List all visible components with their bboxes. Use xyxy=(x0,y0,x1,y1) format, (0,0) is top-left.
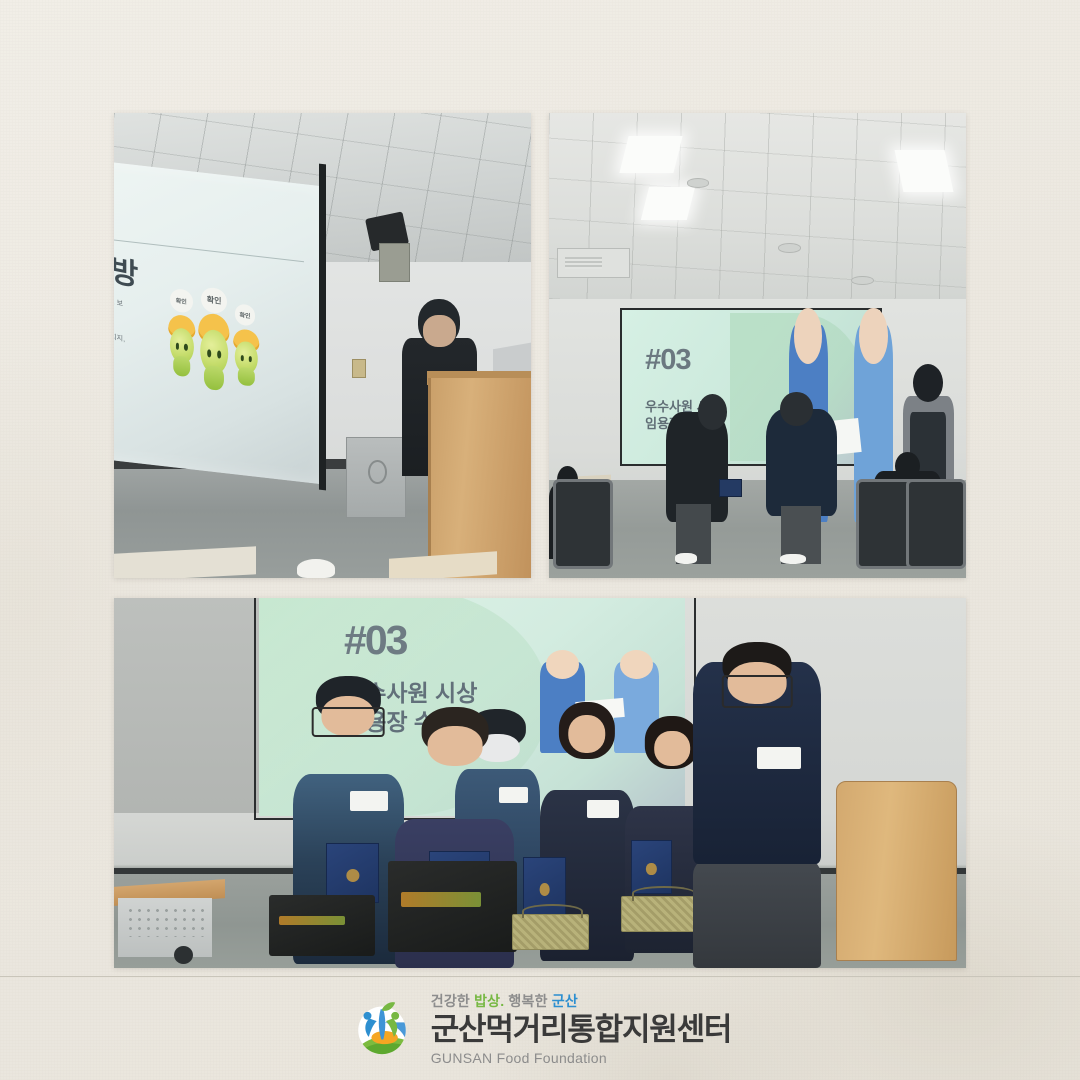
ceiling-vent xyxy=(687,178,710,187)
illustration-head-right xyxy=(620,650,653,679)
organization-name-en: GUNSAN Food Foundation xyxy=(431,1050,732,1066)
air-conditioner-vent xyxy=(557,248,630,278)
name-badge xyxy=(350,791,388,811)
mascot-right xyxy=(234,329,259,384)
giver-head xyxy=(780,392,813,426)
slide-rule-line xyxy=(114,239,304,263)
metal-cabinet xyxy=(346,437,406,518)
glasses-icon xyxy=(312,707,385,737)
mascot-eye xyxy=(241,356,245,362)
slide-body-text: 과속방지, 보 리한 힘 지지, 지) xyxy=(114,289,125,367)
tagline-part-2: 밥상. xyxy=(474,993,504,1009)
presenter-face xyxy=(423,315,456,347)
photo-collage-card: 예방 과속방지, 보 리한 힘 지지, 지) 확인 확인 확인 xyxy=(0,0,1080,1080)
person-face xyxy=(654,731,690,767)
recipient-head xyxy=(698,394,727,429)
ceiling-vent xyxy=(778,243,801,252)
person-face xyxy=(427,726,482,766)
paper-cup xyxy=(297,559,335,578)
screen-side-frame xyxy=(319,164,326,490)
person-trousers xyxy=(693,857,821,968)
mascot-body xyxy=(238,367,254,387)
person-man-glasses-right xyxy=(693,642,821,968)
illustration-head-right xyxy=(859,308,887,364)
wall-outlet xyxy=(352,359,367,377)
gift-bag xyxy=(269,895,375,956)
speech-bubble-2: 확인 xyxy=(201,287,226,315)
recipient-shoe xyxy=(675,553,698,564)
award-gift-box xyxy=(719,479,742,497)
stacking-chair xyxy=(906,479,966,569)
tagline-part-4: 군산 xyxy=(552,993,578,1009)
mascot-eye xyxy=(249,356,253,362)
speech-bubble-3: 확인 xyxy=(235,304,256,327)
name-badge xyxy=(587,800,619,818)
mascot-eye xyxy=(175,343,179,350)
wall-control-box xyxy=(379,243,410,282)
gunsan-food-foundation-logo-icon xyxy=(349,996,415,1062)
mascot-left xyxy=(168,314,195,374)
woven-gift-box xyxy=(621,896,702,931)
mascot-eye xyxy=(207,349,211,357)
logo-text-block: 건강한 밥상. 행복한 군산 군산먹거리통합지원센터 GUNSAN Food F… xyxy=(431,991,732,1066)
folding-table-panel xyxy=(118,898,212,957)
tagline-part-3: 행복한 xyxy=(504,993,551,1009)
wooden-podium xyxy=(836,781,957,961)
glasses-icon xyxy=(722,675,792,708)
slide-number: #03 xyxy=(645,344,690,377)
ceiling-light xyxy=(641,187,695,220)
mascot-eye xyxy=(217,350,221,358)
tagline: 건강한 밥상. 행복한 군산 xyxy=(431,991,732,1011)
gift-bag xyxy=(388,861,517,952)
whiteboard xyxy=(114,598,259,813)
name-badge xyxy=(757,747,800,770)
person-woman-elder xyxy=(395,702,514,968)
mascot-eye xyxy=(184,344,188,351)
group-award-photo[interactable]: #03 우수사원 시상임용장 수여 xyxy=(114,598,966,968)
footer: 건강한 밥상. 행복한 군산 군산먹거리통합지원센터 GUNSAN Food F… xyxy=(0,977,1080,1080)
tagline-part-1: 건강한 xyxy=(431,993,474,1009)
mascot-body xyxy=(173,356,191,377)
award-recipient xyxy=(666,387,729,564)
safety-mascot-group: 확인 확인 확인 xyxy=(166,288,264,418)
giver-shoe xyxy=(780,554,806,564)
person-woman-center xyxy=(540,702,634,961)
woven-gift-box xyxy=(512,914,589,950)
wooden-podium xyxy=(428,378,531,578)
slide-title: 예방 xyxy=(114,241,138,296)
mascot-center xyxy=(198,313,229,388)
certificate-folder xyxy=(326,843,379,903)
ceiling-light xyxy=(619,136,682,173)
award-handover-photo[interactable]: #03 우수사원 시상임용장 수여 xyxy=(549,113,966,578)
person-face xyxy=(568,715,605,754)
award-giver xyxy=(766,392,837,564)
projection-screen: 예방 과속방지, 보 리한 힘 지지, 지) 확인 확인 확인 xyxy=(114,160,323,484)
speech-bubble-1: 확인 xyxy=(170,288,193,313)
slide-number: #03 xyxy=(344,617,406,664)
ceiling-light xyxy=(895,150,954,192)
organization-name-ko: 군산먹거리통합지원센터 xyxy=(431,1014,732,1045)
lecture-presentation-photo[interactable]: 예방 과속방지, 보 리한 힘 지지, 지) 확인 확인 확인 xyxy=(114,113,531,578)
illustration-head-left xyxy=(546,650,579,679)
stacking-chair xyxy=(553,479,613,569)
mascot-body xyxy=(204,365,224,392)
